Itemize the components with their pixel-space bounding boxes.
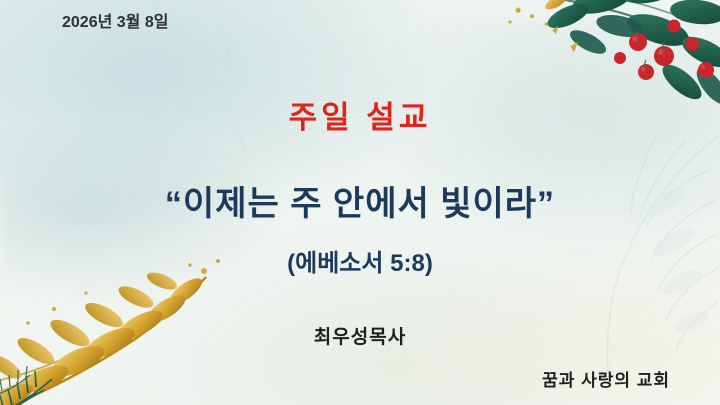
- scripture-reference: (에베소서 5:8): [0, 243, 720, 278]
- sermon-title: “이제는 주 안에서 빛이라”: [0, 176, 720, 225]
- sermon-date: 2026년 3월 8일: [62, 8, 168, 32]
- preacher-name: 최우성목사: [0, 322, 720, 349]
- sermon-type-label: 주일 설교: [0, 92, 720, 137]
- sermon-slide: 2026년 3월 8일 주일 설교 “이제는 주 안에서 빛이라” (에베소서 …: [0, 0, 720, 405]
- church-name: 꿈과 사랑의 교회: [542, 366, 670, 391]
